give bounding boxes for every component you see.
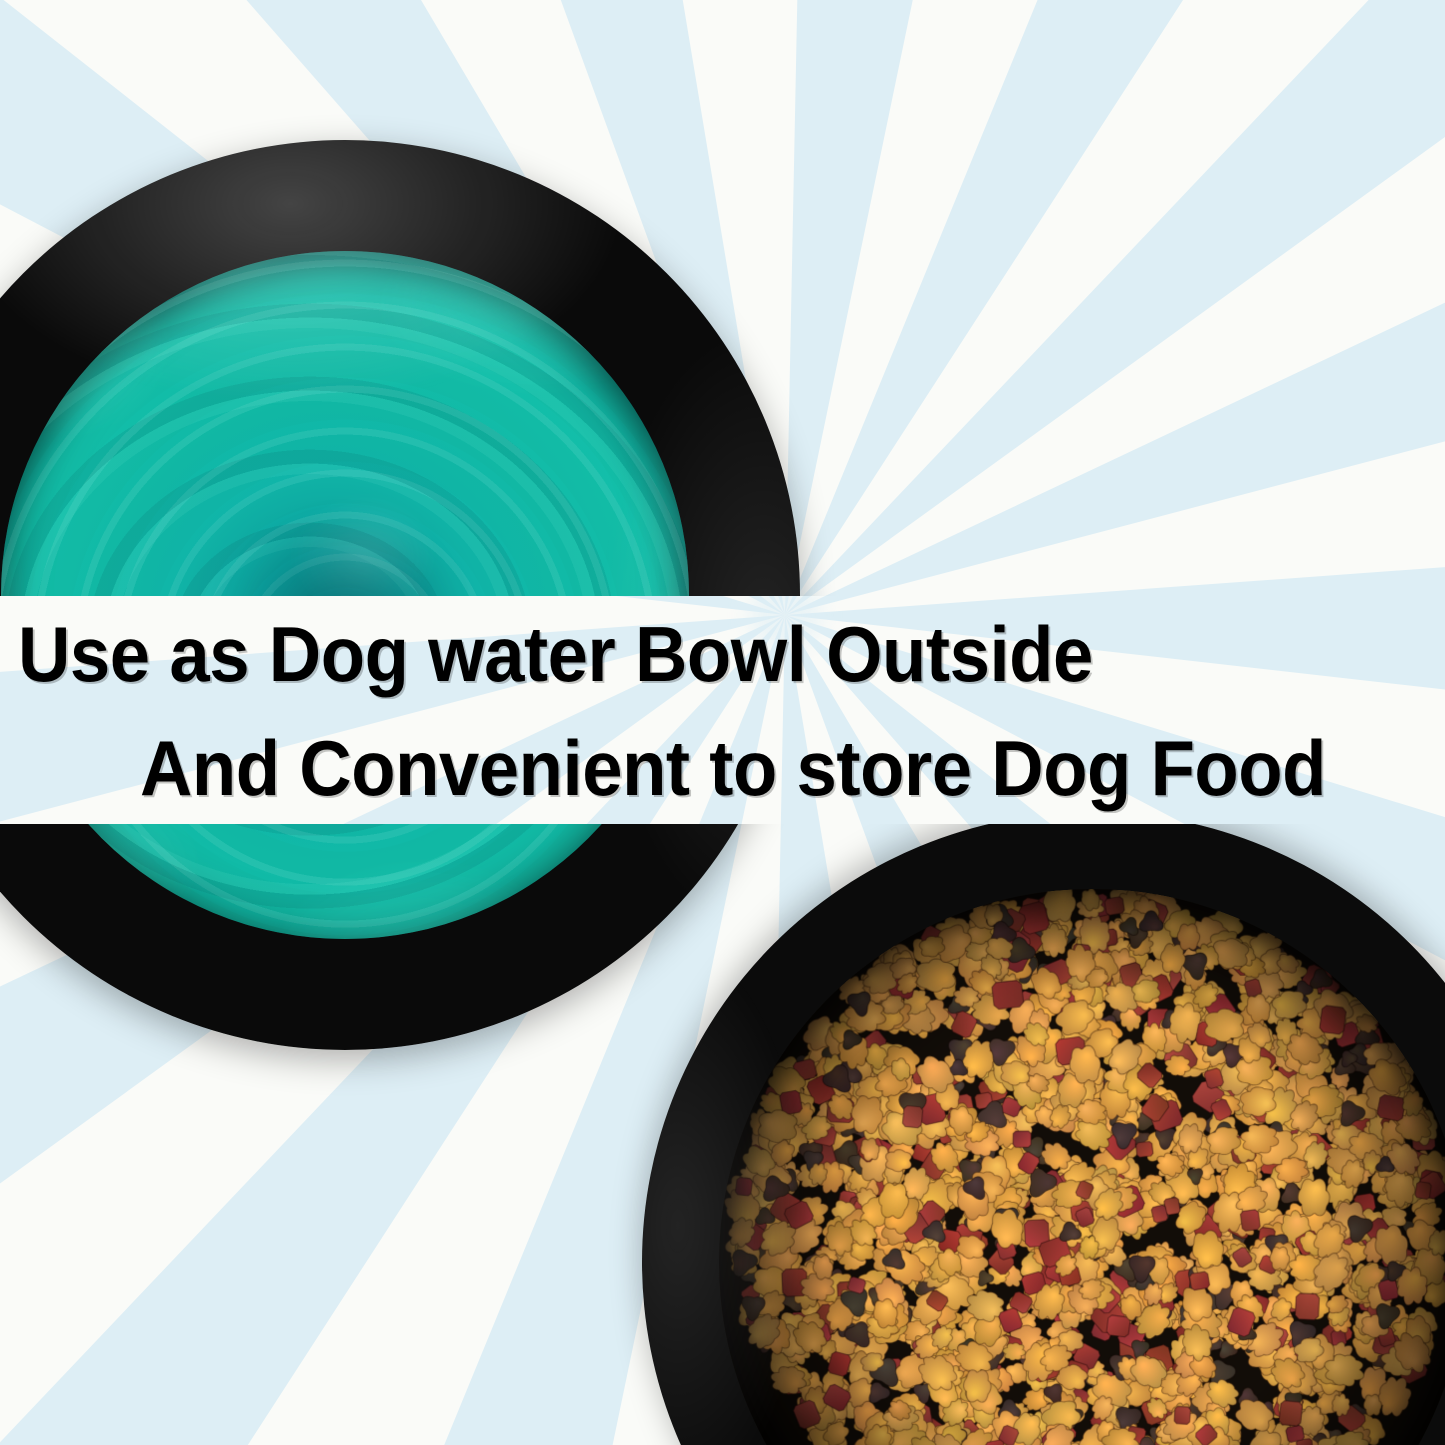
water-bowl [0,140,800,1050]
headline-line-1: Use as Dog water Bowl Outside [18,615,1345,693]
headline: Use as Dog water Bowl Outside And Conven… [0,596,1445,826]
kibble-fill [719,889,1445,1445]
water-surface [1,251,689,939]
poster-canvas: Use as Dog water Bowl Outside And Conven… [0,0,1445,1445]
headline-line-2: And Convenient to store Dog Food [140,729,1354,807]
kibble-canvas [719,889,1445,1445]
